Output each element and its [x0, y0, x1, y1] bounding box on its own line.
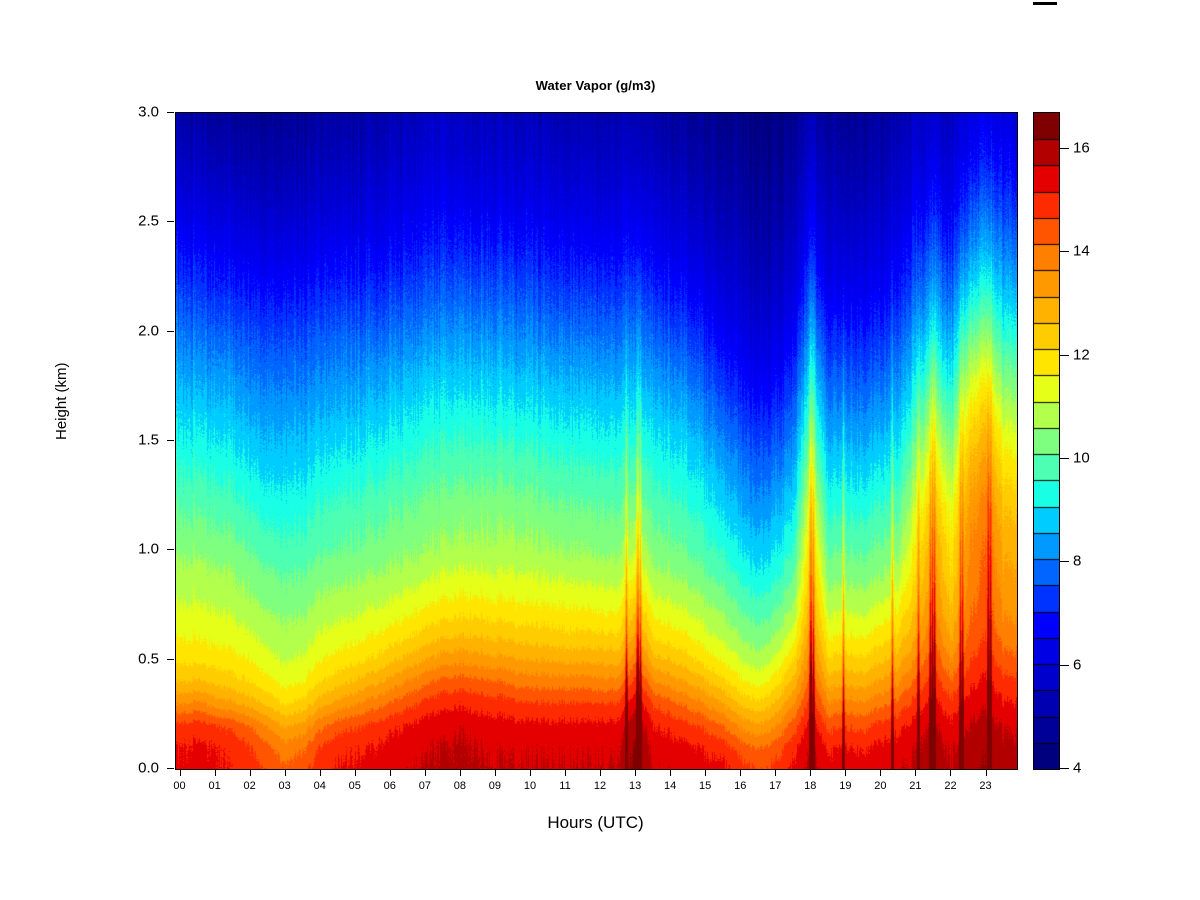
x-axis-tick-mark [320, 769, 321, 776]
y-axis-tick-mark [167, 221, 174, 222]
x-axis-tick-label: 00 [173, 780, 185, 792]
colorbar-tick-label: 12 [1073, 346, 1090, 363]
x-axis-tick-label: 19 [839, 780, 851, 792]
y-axis-tick-label: 0.0 [97, 760, 159, 777]
x-axis-tick-label: 14 [664, 780, 676, 792]
x-axis-label: Hours (UTC) [175, 813, 1016, 833]
y-axis-tick-mark [167, 440, 174, 441]
y-axis-tick-label: 2.0 [97, 322, 159, 339]
y-axis-tick-label: 2.5 [97, 213, 159, 230]
colorbar-tick-label: 4 [1073, 760, 1081, 777]
x-axis-tick-label: 03 [279, 780, 291, 792]
x-axis-tick-mark [600, 769, 601, 776]
colorbar-tick-mark [1060, 561, 1069, 562]
x-axis-tick-mark [740, 769, 741, 776]
colorbar-tick-label: 14 [1073, 243, 1090, 260]
x-axis-tick-label: 01 [208, 780, 220, 792]
x-axis-tick-label: 20 [874, 780, 886, 792]
y-axis-tick-mark [167, 768, 174, 769]
y-axis-tick-mark [167, 112, 174, 113]
water-vapor-time-height-figure: Water Vapor (g/m3) 0.00.51.01.52.02.53.0… [0, 0, 1200, 900]
x-axis-tick-label: 18 [804, 780, 816, 792]
x-axis-tick-mark [495, 769, 496, 776]
x-axis-tick-label: 06 [384, 780, 396, 792]
top-edge-artifact [1033, 2, 1057, 5]
x-axis-tick-label: 13 [629, 780, 641, 792]
y-axis-tick-label: 1.0 [97, 541, 159, 558]
colorbar-tick-mark [1060, 148, 1069, 149]
colorbar-gradient [1034, 113, 1059, 769]
colorbar-tick-label: 16 [1073, 140, 1090, 157]
x-axis-tick-mark [670, 769, 671, 776]
x-axis-tick-label: 05 [349, 780, 361, 792]
y-axis-tick-label: 0.5 [97, 650, 159, 667]
x-axis-tick-label: 08 [454, 780, 466, 792]
x-axis-tick-label: 16 [734, 780, 746, 792]
x-axis-tick-label: 10 [524, 780, 536, 792]
x-axis-tick-mark [845, 769, 846, 776]
y-axis-tick-label: 1.5 [97, 432, 159, 449]
x-axis-tick-label: 21 [909, 780, 921, 792]
x-axis-tick-label: 22 [944, 780, 956, 792]
y-axis-tick-mark [167, 659, 174, 660]
x-axis-tick-mark [355, 769, 356, 776]
colorbar-tick-mark [1060, 458, 1069, 459]
colorbar [1033, 112, 1060, 770]
x-axis-tick-mark [810, 769, 811, 776]
x-axis-tick-label: 11 [559, 780, 570, 792]
x-axis-tick-label: 17 [769, 780, 781, 792]
x-axis-tick-mark [880, 769, 881, 776]
colorbar-tick-mark [1060, 665, 1069, 666]
x-axis-tick-mark [530, 769, 531, 776]
x-axis-tick-mark [915, 769, 916, 776]
x-axis-tick-mark [635, 769, 636, 776]
x-axis-tick-label: 02 [244, 780, 256, 792]
x-axis-tick-mark [425, 769, 426, 776]
x-axis-tick-mark [215, 769, 216, 776]
heatmap-plot-panel [175, 112, 1018, 770]
x-axis-tick-label: 15 [699, 780, 711, 792]
x-axis-tick-mark [775, 769, 776, 776]
x-axis-tick-mark [565, 769, 566, 776]
colorbar-tick-mark [1060, 251, 1069, 252]
colorbar-tick-label: 10 [1073, 450, 1090, 467]
y-axis-tick-label: 3.0 [97, 104, 159, 121]
colorbar-tick-label: 8 [1073, 553, 1081, 570]
x-axis-tick-label: 12 [594, 780, 606, 792]
y-axis-tick-mark [167, 331, 174, 332]
x-axis-tick-mark [250, 769, 251, 776]
x-axis-tick-mark [285, 769, 286, 776]
water-vapor-heatmap [176, 113, 1017, 769]
x-axis-tick-label: 07 [419, 780, 431, 792]
x-axis-tick-mark [705, 769, 706, 776]
x-axis-tick-label: 04 [314, 780, 326, 792]
colorbar-tick-mark [1060, 355, 1069, 356]
x-axis-tick-label: 09 [489, 780, 501, 792]
colorbar-tick-mark [1060, 768, 1069, 769]
x-axis-tick-mark [950, 769, 951, 776]
x-axis-tick-mark [180, 769, 181, 776]
y-axis-label: Height (km) [53, 362, 70, 440]
y-axis-tick-mark [167, 549, 174, 550]
colorbar-tick-label: 6 [1073, 656, 1081, 673]
x-axis-tick-mark [460, 769, 461, 776]
x-axis-tick-mark [390, 769, 391, 776]
x-axis-tick-mark [986, 769, 987, 776]
page-title: Water Vapor (g/m3) [175, 78, 1016, 93]
x-axis-tick-label: 23 [979, 780, 991, 792]
